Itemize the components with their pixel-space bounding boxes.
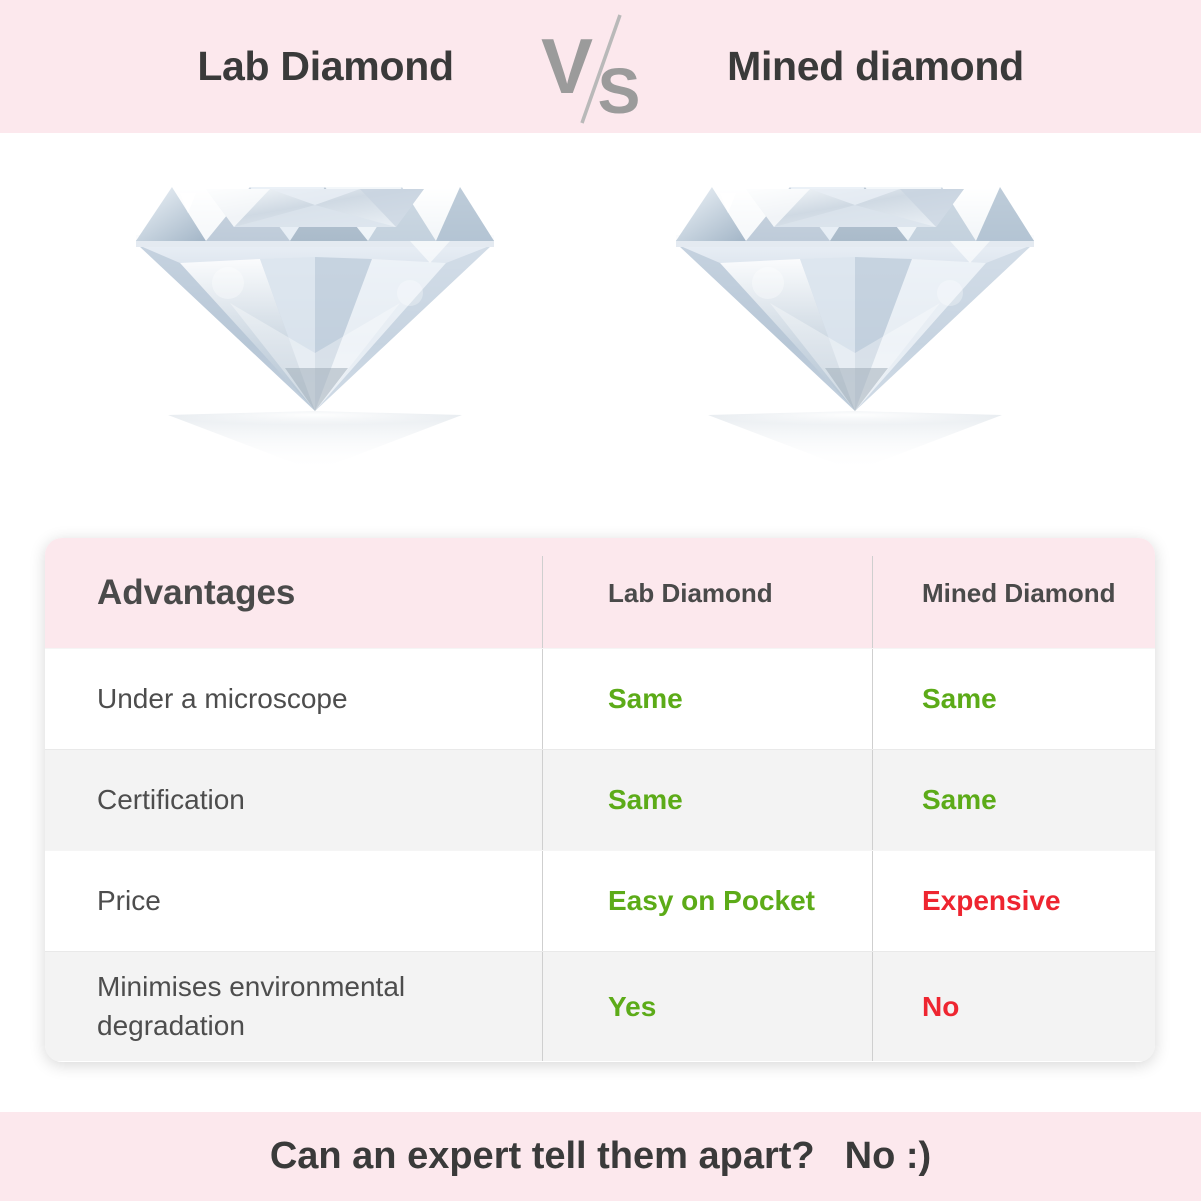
table-row: Certification Same Same <box>45 749 1155 850</box>
mined-value: No <box>922 991 959 1023</box>
column-divider-2 <box>872 556 873 648</box>
column-header-advantages: Advantages <box>97 573 295 613</box>
top-banner: Lab Diamond V S Mined diamond <box>0 0 1201 133</box>
feature-label: Price <box>97 882 161 921</box>
column-divider-1 <box>542 556 543 648</box>
lab-diamond-image <box>110 153 530 493</box>
feature-label: Certification <box>97 781 245 820</box>
feature-label: Minimises environmental degradation <box>97 968 528 1045</box>
column-divider-1 <box>542 649 543 749</box>
mined-value: Same <box>922 784 997 816</box>
table-row: Under a microscope Same Same <box>45 648 1155 749</box>
column-divider-1 <box>542 851 543 951</box>
expert-answer: No :) <box>845 1135 932 1178</box>
column-divider-2 <box>872 952 873 1061</box>
lab-diamond-title: Lab Diamond <box>111 43 541 90</box>
lab-value: Easy on Pocket <box>608 885 815 917</box>
bottom-banner: Can an expert tell them apart? No :) <box>0 1112 1201 1201</box>
column-divider-2 <box>872 750 873 850</box>
feature-label: Under a microscope <box>97 680 348 719</box>
mined-diamond-title: Mined diamond <box>661 43 1091 90</box>
column-divider-1 <box>542 952 543 1061</box>
diamond-images-area <box>0 133 1201 533</box>
column-divider-1 <box>542 750 543 850</box>
column-divider-2 <box>872 851 873 951</box>
svg-text:V: V <box>541 22 593 110</box>
lab-value: Same <box>608 683 683 715</box>
expert-question: Can an expert tell them apart? <box>270 1135 815 1178</box>
table-header-row: Advantages Lab Diamond Mined Diamond <box>45 538 1155 648</box>
comparison-table: Advantages Lab Diamond Mined Diamond Und… <box>45 538 1155 1062</box>
column-header-mined-diamond: Mined Diamond <box>922 578 1116 609</box>
lab-value: Same <box>608 784 683 816</box>
svg-text:S: S <box>597 55 640 127</box>
mined-diamond-image <box>650 153 1070 493</box>
column-header-lab-diamond: Lab Diamond <box>608 578 773 609</box>
column-divider-2 <box>872 649 873 749</box>
mined-value: Expensive <box>922 885 1061 917</box>
table-row: Minimises environmental degradation Yes … <box>45 951 1155 1061</box>
mined-value: Same <box>922 683 997 715</box>
lab-value: Yes <box>608 991 656 1023</box>
table-row: Price Easy on Pocket Expensive <box>45 850 1155 951</box>
vs-icon: V S <box>541 7 661 127</box>
